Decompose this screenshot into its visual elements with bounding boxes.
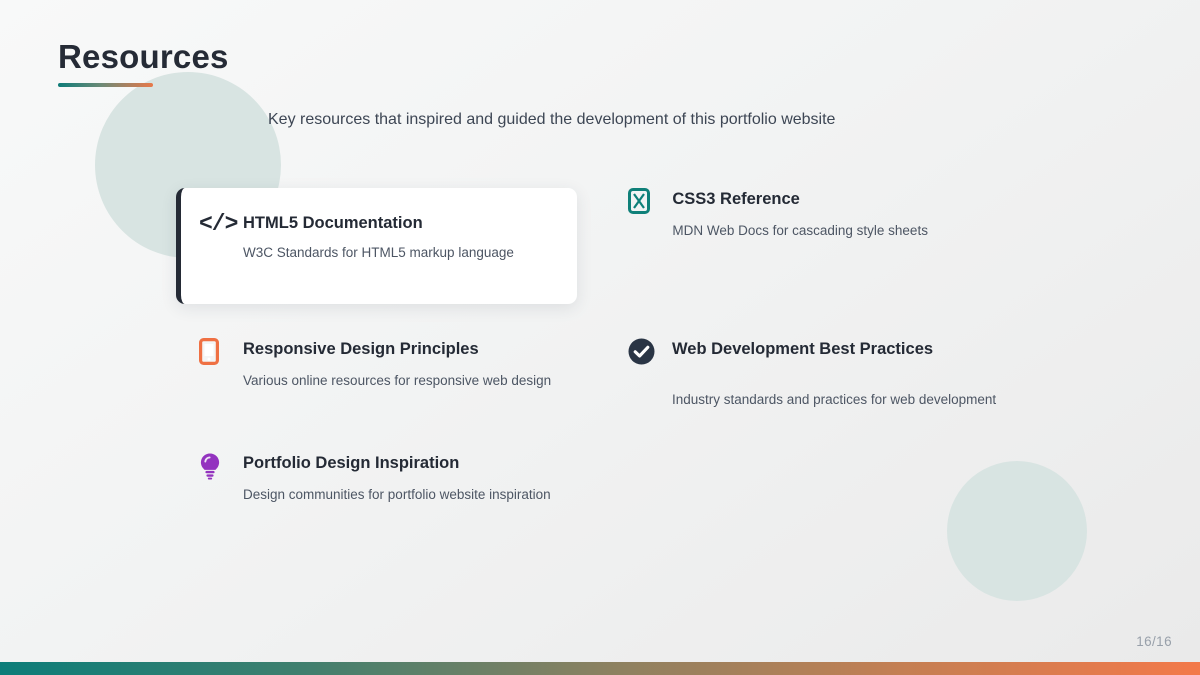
resource-title: Portfolio Design Inspiration bbox=[243, 452, 592, 474]
title-underline-accent bbox=[58, 83, 153, 87]
slide-subtitle: Key resources that inspired and guided t… bbox=[268, 108, 835, 132]
resource-title: Responsive Design Principles bbox=[243, 338, 577, 360]
check-circle-icon bbox=[628, 338, 655, 365]
resource-title: CSS3 Reference bbox=[672, 188, 1006, 210]
resource-description: W3C Standards for HTML5 markup language bbox=[243, 243, 559, 263]
icon-slot bbox=[199, 338, 243, 365]
resource-title: Web Development Best Practices bbox=[672, 338, 1006, 360]
resource-description: Various online resources for responsive … bbox=[243, 367, 577, 394]
resource-grid: </> HTML5 Documentation W3C Standards fo… bbox=[176, 188, 1006, 508]
page-title: Resources bbox=[58, 36, 229, 78]
resource-row: Responsive Design Principles Various onl… bbox=[176, 338, 1006, 413]
lightbulb-icon bbox=[199, 452, 221, 480]
icon-slot bbox=[199, 452, 243, 480]
footer-accent-bar bbox=[0, 662, 1200, 675]
text-slot: Web Development Best Practices Industry … bbox=[672, 338, 1006, 413]
code-brackets-icon: </> bbox=[199, 212, 237, 236]
resource-card-html5[interactable]: </> HTML5 Documentation W3C Standards fo… bbox=[176, 188, 577, 304]
text-slot: Portfolio Design Inspiration Design comm… bbox=[243, 452, 592, 508]
resource-description: MDN Web Docs for cascading style sheets bbox=[672, 217, 1006, 244]
icon-slot bbox=[628, 188, 672, 214]
text-slot: HTML5 Documentation W3C Standards for HT… bbox=[243, 212, 559, 263]
resource-description: Industry standards and practices for web… bbox=[672, 386, 1006, 413]
resource-card-inspiration[interactable]: Portfolio Design Inspiration Design comm… bbox=[176, 452, 592, 508]
icon-slot: </> bbox=[199, 212, 243, 236]
icon-slot bbox=[628, 338, 672, 365]
text-slot: CSS3 Reference MDN Web Docs for cascadin… bbox=[672, 188, 1006, 244]
resource-description: Design communities for portfolio website… bbox=[243, 481, 592, 508]
slide-header: Resources bbox=[58, 36, 229, 87]
css3-badge-icon bbox=[628, 188, 650, 214]
page-indicator: 16/16 bbox=[1136, 634, 1172, 649]
resource-card-css3[interactable]: CSS3 Reference MDN Web Docs for cascadin… bbox=[605, 188, 1006, 304]
resource-card-best-practices[interactable]: Web Development Best Practices Industry … bbox=[605, 338, 1006, 413]
resource-title: HTML5 Documentation bbox=[243, 212, 559, 234]
text-slot: Responsive Design Principles Various onl… bbox=[243, 338, 577, 394]
resource-row: Portfolio Design Inspiration Design comm… bbox=[176, 452, 1006, 508]
mobile-phone-icon bbox=[199, 338, 219, 365]
resource-row: </> HTML5 Documentation W3C Standards fo… bbox=[176, 188, 1006, 304]
resource-card-responsive[interactable]: Responsive Design Principles Various onl… bbox=[176, 338, 577, 413]
